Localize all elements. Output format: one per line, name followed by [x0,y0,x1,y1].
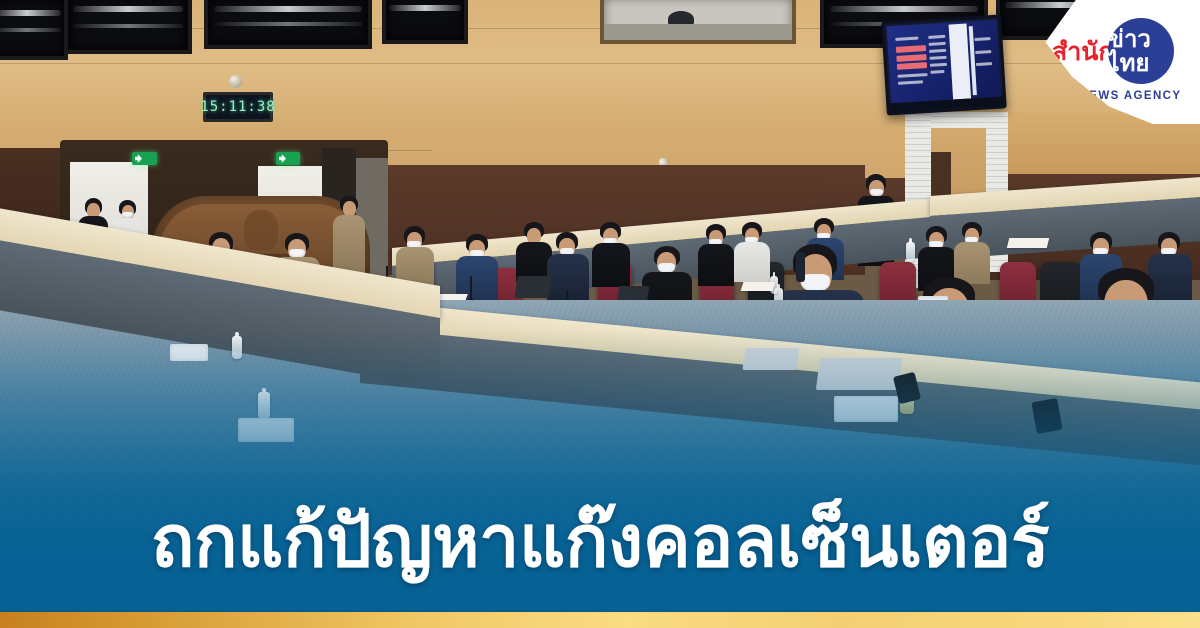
logo-wordmark: สำนัก ข่าวไทย [1052,18,1174,84]
paper-document [1007,238,1049,248]
digital-wall-clock: 15:11:38 [203,92,273,122]
microphone [470,276,472,300]
logo-thai-white-text: ข่าวไทย [1108,27,1174,75]
ceiling-window [204,0,372,49]
news-thumbnail-image: 15:11:38 [0,0,1200,628]
logo-blue-circle: ข่าวไทย [1108,18,1174,84]
emergency-exit-sign [132,152,157,165]
wall-seam [0,63,1200,64]
ceiling-window [0,0,68,60]
laptop [514,276,551,298]
emergency-exit-sign [276,152,300,165]
wall-mounted-display [881,14,1007,115]
headline-text: ถกแก้ปัญหาแก๊งคอลเซ็นเตอร์ [0,506,1200,578]
gold-bottom-bar [0,612,1200,628]
paper-document [741,282,776,291]
ceiling-speaker [229,75,242,88]
ceiling-window [64,0,192,54]
water-bottle [906,242,915,262]
ceiling-window-lit [600,0,796,44]
ceiling-window [382,0,468,44]
logo-thai-red-text: สำนัก [1052,39,1114,64]
